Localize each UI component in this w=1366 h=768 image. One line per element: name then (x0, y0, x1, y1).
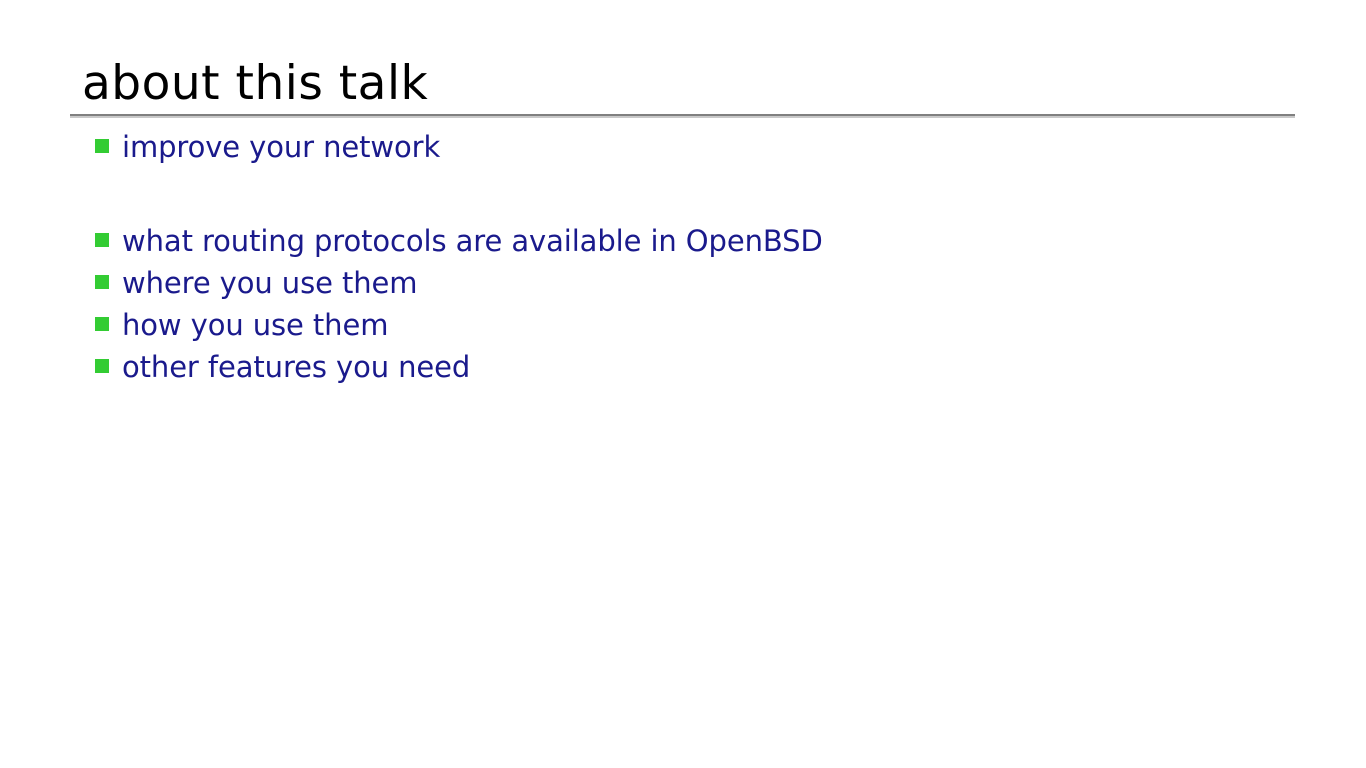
list-item-label: what routing protocols are available in … (122, 224, 823, 258)
green-square-bullet-icon (95, 275, 109, 289)
list-item: improve your network (95, 130, 1295, 172)
green-square-bullet-icon (95, 359, 109, 373)
green-square-bullet-icon (95, 233, 109, 247)
title-divider (70, 114, 1295, 118)
list-item: where you use them (95, 266, 1295, 308)
list-item-label: how you use them (122, 308, 388, 342)
list-item: what routing protocols are available in … (95, 224, 1295, 266)
page-title: about this talk (70, 56, 1295, 112)
list-item-label: where you use them (122, 266, 417, 300)
green-square-bullet-icon (95, 317, 109, 331)
list-item: how you use them (95, 308, 1295, 350)
list-item-label: other features you need (122, 350, 470, 384)
presentation-slide: about this talk improve your network wha… (0, 0, 1366, 768)
slide-header: about this talk (70, 56, 1295, 112)
slide-bullet-list: improve your network what routing protoc… (95, 130, 1295, 392)
list-item-label: improve your network (122, 130, 440, 164)
list-item: other features you need (95, 350, 1295, 392)
green-square-bullet-icon (95, 139, 109, 153)
